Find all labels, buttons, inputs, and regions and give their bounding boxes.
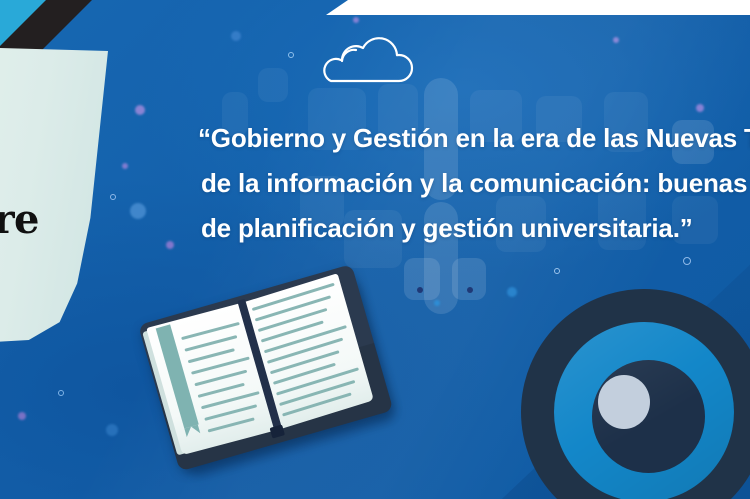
quote-line-3: de planificación y gestión universitaria… [201,206,750,251]
eye-highlight [598,375,650,429]
bokeh-dot [417,287,423,293]
bokeh-dot [135,105,145,115]
bokeh-dot [58,390,64,396]
book-line [258,308,328,332]
bokeh-dot [683,257,691,265]
bokeh-dot [106,424,118,436]
book-line [261,320,324,342]
paper-label: bre [0,196,39,243]
book-line [273,363,336,385]
book-line [282,392,352,416]
quote-line-1: “Gobierno y Gestión en la era de las Nue… [198,116,750,161]
bokeh-dot [122,163,128,169]
bokeh-dot [507,287,517,297]
bokeh-dot [467,287,473,293]
bokeh-dot [696,104,704,112]
banner-canvas: bre “Gobierno y Gestión en la era de las… [0,0,750,499]
book-line [270,350,340,374]
top-white-band [326,0,750,15]
bokeh-dot [613,37,619,43]
bokeh-dot [166,241,174,249]
cloud-icon [311,31,419,85]
book-line [208,417,255,432]
bokeh-dot [554,268,560,274]
bokeh-dot [130,203,146,219]
bokeh-dot [18,412,26,420]
bokeh-dot [288,52,294,58]
bokeh-dot [434,300,440,306]
quote-line-2: de la información y la comunicación: bue… [201,161,750,206]
eye-lens-icon [521,289,750,499]
bokeh-dot [110,194,116,200]
bokeh-dot [231,31,241,41]
quote-text: “Gobierno y Gestión en la era de las Nue… [198,116,750,251]
bokeh-dot [353,17,359,23]
